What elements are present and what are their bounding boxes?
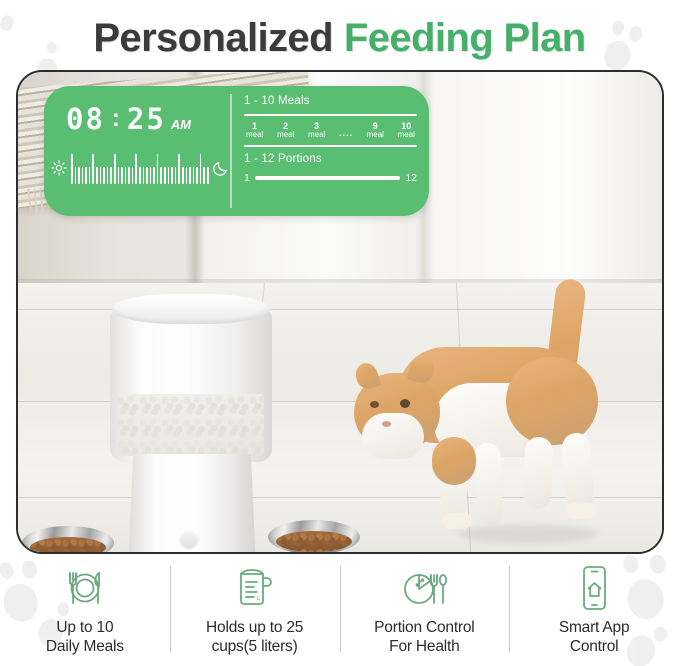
feature-row: Up to 10 Daily Meals L Holds up to 25 cu… — [0, 560, 679, 666]
tick-mark — [150, 167, 152, 184]
portion-max-label: 12 — [405, 172, 417, 184]
meal-unit-label: meal — [308, 131, 325, 139]
tick-mark — [121, 167, 123, 184]
feature-label: Smart App Control — [559, 619, 630, 656]
tick-mark — [85, 167, 87, 184]
tick-mark — [114, 154, 116, 184]
feature-line-2: Daily Meals — [46, 638, 124, 657]
meal-scale[interactable]: 1meal2meal3meal....9meal10meal — [244, 122, 417, 140]
tick-mark — [178, 154, 180, 184]
tick-mark — [143, 167, 145, 184]
tick-mark — [75, 167, 77, 184]
meal-unit-label: meal — [367, 131, 384, 139]
tick-mark — [78, 167, 80, 184]
title-part-2: Feeding Plan — [344, 18, 586, 58]
tick-mark — [118, 167, 120, 184]
meal-scale-item[interactable]: 3meal — [308, 122, 325, 140]
feature-line-1: Smart App — [559, 619, 630, 638]
clock-minutes: 25 — [127, 102, 166, 136]
feature-capacity: L Holds up to 25 cups(5 liters) — [170, 560, 340, 666]
feature-line-1: Holds up to 25 — [206, 619, 303, 638]
tick-mark — [175, 167, 177, 184]
feature-label: Holds up to 25 cups(5 liters) — [206, 619, 303, 656]
tick-mark — [96, 167, 98, 184]
title-part-1: Personalized — [93, 18, 333, 58]
feature-portion-control: Portion Control For Health — [340, 560, 510, 666]
meal-unit-label: meal — [246, 131, 263, 139]
tick-mark — [89, 167, 91, 184]
feature-smart-app: Smart App Control — [509, 560, 679, 666]
portion-slider-track[interactable] — [255, 176, 400, 180]
kibble-in-hopper — [118, 394, 264, 456]
dispense-button[interactable] — [180, 530, 198, 548]
tick-mark — [153, 167, 155, 184]
tick-mark — [189, 167, 191, 184]
tick-mark — [160, 167, 162, 184]
tick-mark — [92, 154, 94, 184]
hopper-lid — [112, 294, 270, 324]
tick-mark — [193, 167, 195, 184]
feature-line-1: Portion Control — [374, 619, 474, 638]
food-hopper — [110, 310, 272, 462]
tick-mark — [203, 167, 205, 184]
tick-mark — [135, 154, 137, 184]
tick-mark — [182, 167, 184, 184]
page-title: Personalized Feeding Plan — [0, 10, 679, 66]
feature-label: Up to 10 Daily Meals — [46, 619, 124, 656]
tick-mark — [132, 167, 134, 184]
plan-section: 1 - 10 Meals 1meal2meal3meal....9meal10m… — [232, 86, 429, 216]
tick-mark — [139, 167, 141, 184]
meal-unit-label: meal — [398, 131, 415, 139]
tick-mark — [125, 167, 127, 184]
portion-plate-icon — [397, 564, 451, 612]
clock-section: 08 : 25 AM — [44, 86, 230, 216]
feature-daily-meals: Up to 10 Daily Meals — [0, 560, 170, 666]
product-infographic: Personalized Feeding Plan — [0, 0, 679, 666]
24-hour-tick-scale[interactable] — [50, 148, 230, 188]
tick-mark — [103, 167, 105, 184]
tick-mark — [200, 154, 202, 184]
feature-line-2: cups(5 liters) — [206, 638, 303, 657]
feature-line-1: Up to 10 — [46, 619, 124, 638]
tick-mark — [171, 167, 173, 184]
tick-mark — [110, 167, 112, 184]
meals-divider-top — [244, 114, 417, 116]
tick-mark — [107, 167, 109, 184]
moon-icon — [212, 159, 230, 177]
feature-line-2: For Health — [374, 638, 474, 657]
food-bowl-left — [16, 526, 120, 554]
meal-unit-label: meal — [277, 131, 294, 139]
svg-text:L: L — [257, 596, 261, 602]
portion-min-label: 1 — [244, 172, 250, 184]
meal-scale-ellipsis: .... — [339, 128, 353, 139]
cat-photo — [338, 287, 664, 554]
measuring-cup-icon: L — [231, 564, 279, 612]
clock-separator: : — [107, 105, 125, 133]
clock-ampm: AM — [171, 117, 191, 132]
plate-fork-knife-icon — [58, 564, 112, 612]
digital-clock: 08 : 25 AM — [66, 102, 191, 136]
tick-mark — [168, 167, 170, 184]
meals-divider-bottom — [244, 145, 417, 147]
automatic-feeder: NEATSTAR — [104, 294, 278, 554]
meal-scale-item[interactable]: 1meal — [246, 122, 263, 140]
feature-line-2: Control — [559, 638, 630, 657]
tick-mark — [82, 167, 84, 184]
meal-scale-item[interactable]: 10meal — [398, 122, 415, 140]
feeding-schedule-panel: 08 : 25 AM — [44, 86, 429, 216]
tick-mark — [196, 167, 198, 184]
feature-label: Portion Control For Health — [374, 619, 474, 656]
clock-hours: 08 — [66, 102, 105, 136]
tick-mark — [164, 167, 166, 184]
tick-mark — [157, 154, 159, 184]
tick-mark — [128, 167, 130, 184]
smartphone-home-icon — [576, 564, 612, 612]
tick-marks — [71, 150, 209, 186]
food-bowl-right — [262, 520, 366, 554]
tick-mark — [186, 167, 188, 184]
meal-scale-item[interactable]: 9meal — [367, 122, 384, 140]
tick-mark — [100, 167, 102, 184]
portions-slider[interactable]: 1 12 — [244, 172, 417, 184]
tick-mark — [146, 167, 148, 184]
portions-heading: 1 - 12 Portions — [244, 153, 417, 165]
tick-mark — [71, 154, 73, 184]
sun-icon — [50, 159, 68, 177]
meals-heading: 1 - 10 Meals — [244, 95, 417, 107]
tick-mark — [207, 167, 209, 184]
meal-scale-item[interactable]: 2meal — [277, 122, 294, 140]
